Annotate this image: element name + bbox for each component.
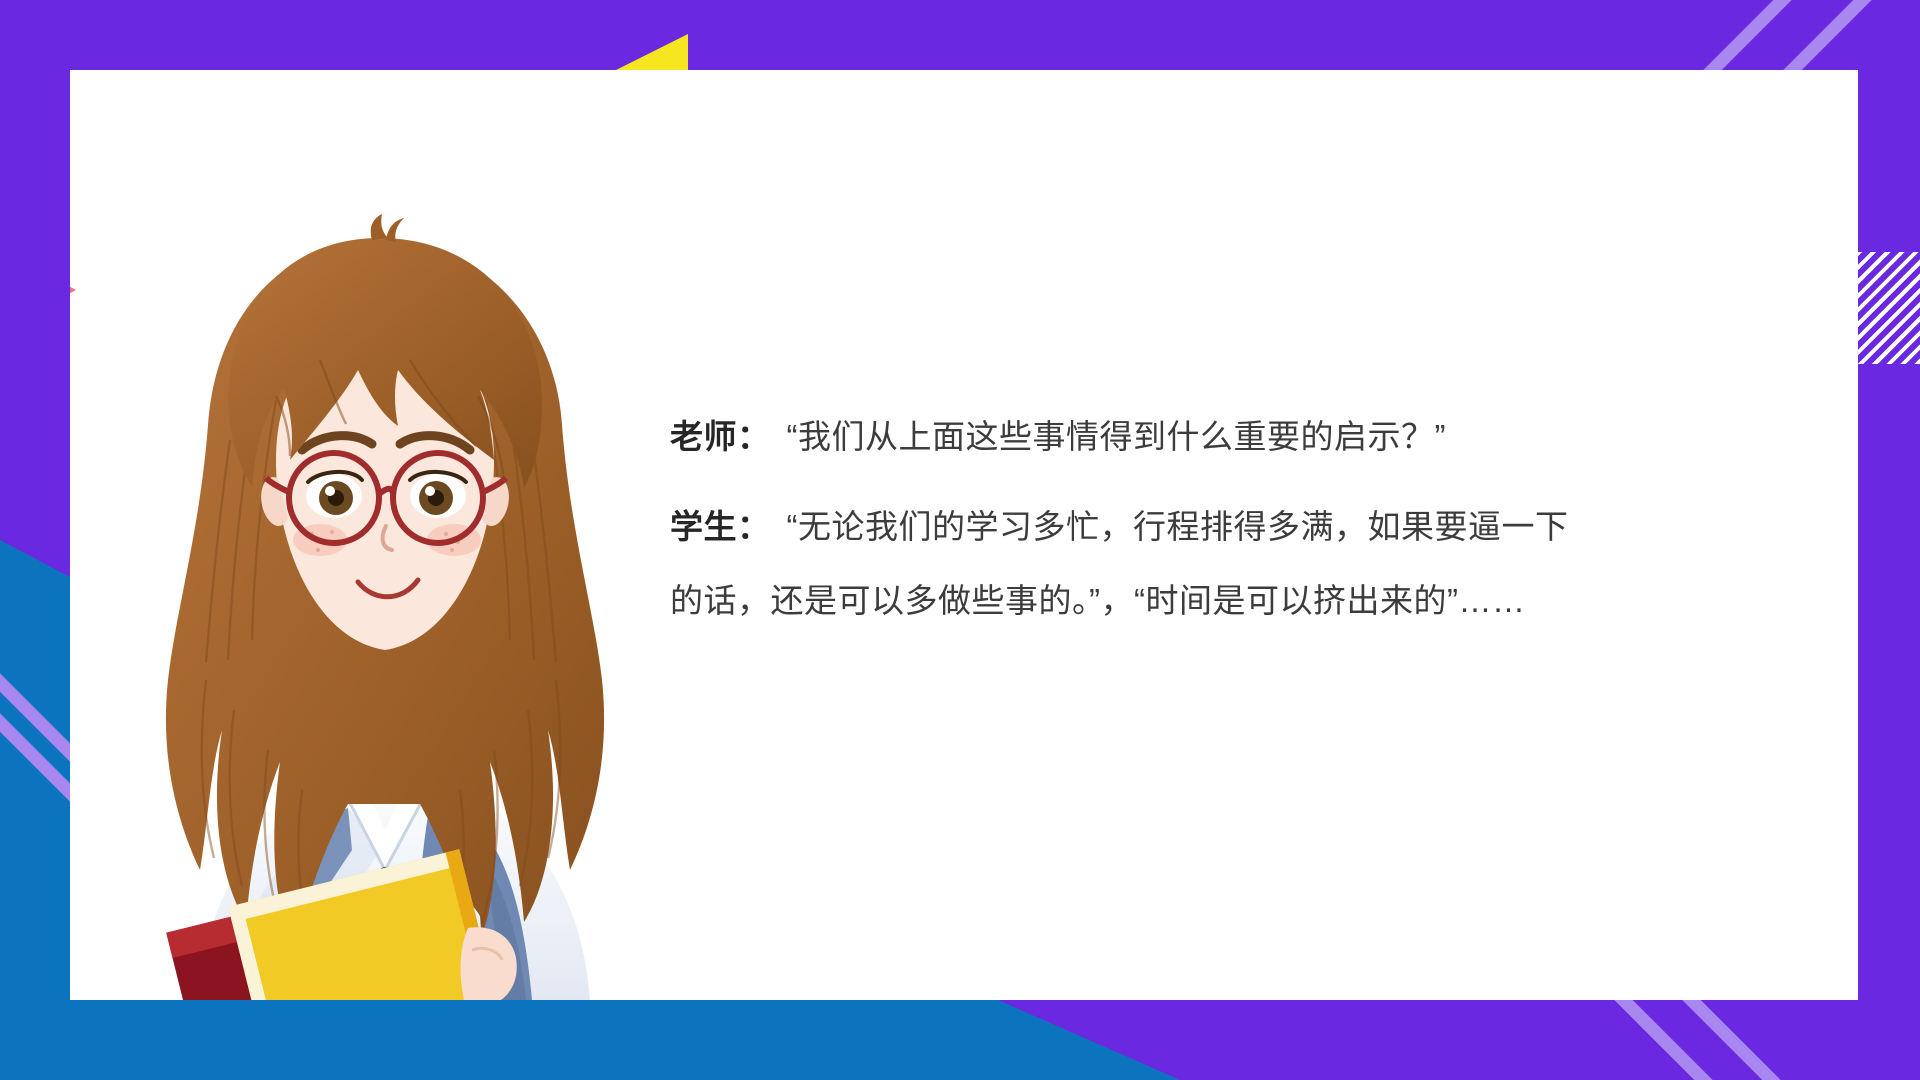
- teacher-quote-text: “我们从上面这些事情得到什么重要的启示？”: [787, 418, 1446, 455]
- student-speaker-label: 学生：: [670, 508, 771, 545]
- content-card: 老师：“我们从上面这些事情得到什么重要的启示？” 学生：“无论我们的学习多忙，行…: [70, 70, 1858, 1000]
- hatched-block-right: [1854, 252, 1920, 364]
- pink-triangle-accent: [70, 279, 76, 301]
- student-line-1: 学生：“无论我们的学习多忙，行程排得多满，如果要逼一下: [670, 490, 1820, 564]
- student-quote-text-line2: 的话，还是可以多做些事的。”，“时间是可以挤出来的”……: [670, 582, 1525, 619]
- dialogue-block: 老师：“我们从上面这些事情得到什么重要的启示？” 学生：“无论我们的学习多忙，行…: [670, 400, 1820, 638]
- yellow-triangle-accent: [612, 34, 688, 72]
- teacher-speaker-label: 老师：: [670, 418, 771, 455]
- teacher-dialogue-paragraph: 老师：“我们从上面这些事情得到什么重要的启示？”: [670, 400, 1820, 474]
- student-dialogue-paragraph: 学生：“无论我们的学习多忙，行程排得多满，如果要逼一下 的话，还是可以多做些事的…: [670, 490, 1820, 638]
- teacher-illustration: [80, 210, 680, 1000]
- student-quote-text-line1: “无论我们的学习多忙，行程排得多满，如果要逼一下: [787, 508, 1569, 545]
- teacher-line: 老师：“我们从上面这些事情得到什么重要的启示？”: [670, 400, 1820, 474]
- slide-canvas: 老师：“我们从上面这些事情得到什么重要的启示？” 学生：“无论我们的学习多忙，行…: [0, 0, 1920, 1080]
- student-line-2: 的话，还是可以多做些事的。”，“时间是可以挤出来的”……: [670, 564, 1820, 638]
